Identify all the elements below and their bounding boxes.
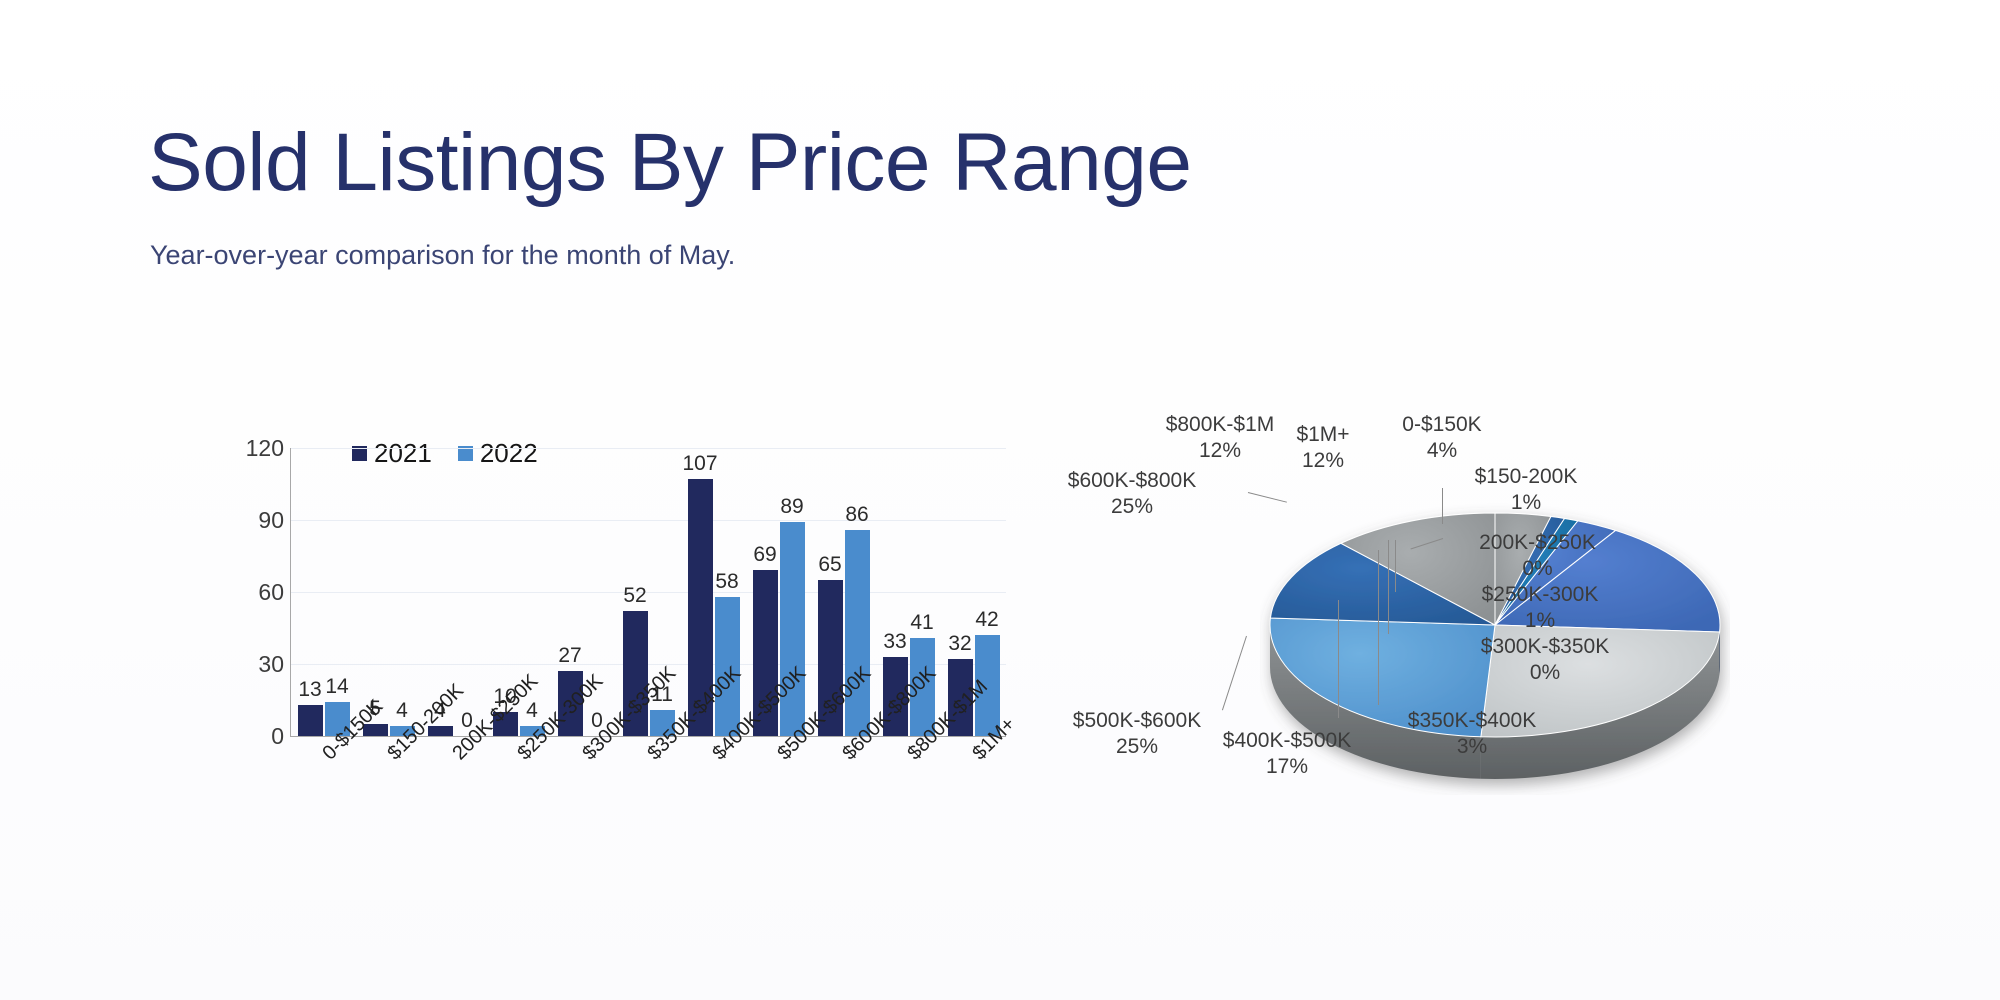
x-label-cell: $150-200K — [356, 740, 421, 840]
bar-value-label: 41 — [910, 611, 933, 635]
bar-value-label: 65 — [818, 553, 841, 577]
bar-value-label: 107 — [682, 452, 717, 476]
leader-line-350k-400k — [1378, 550, 1379, 705]
leader-line-300k-350k — [1388, 540, 1389, 634]
page-subtitle: Year-over-year comparison for the month … — [150, 240, 735, 271]
pie-label-name-800k-1m: $800K-$1M — [1166, 413, 1275, 436]
x-label-cell: $500K-$600K — [746, 740, 811, 840]
y-axis-labels: 120 90 60 30 0 — [212, 448, 284, 736]
leader-line-400k-500k — [1338, 600, 1339, 718]
pie-label-pct-500k-600k: 25% — [1042, 734, 1232, 760]
pie-label-pct-200k-250k: 0% — [1450, 556, 1625, 582]
pie-chart: $800K-$1M 12% $1M+ 12% 0-$150K 4% $150-2… — [1150, 440, 1970, 860]
pie-label-name-500k-600k: $500K-$600K — [1073, 709, 1201, 732]
x-label-cell: $1M+ — [941, 740, 1006, 840]
pie-label-300k-350k: $300K-$350K 0% — [1450, 634, 1640, 686]
x-label-cell: $600K-$800K — [811, 740, 876, 840]
pie-label-pct-150-200k: 1% — [1446, 490, 1606, 516]
page-title: Sold Listings By Price Range — [148, 120, 1191, 206]
pie-label-1m-plus: $1M+ 12% — [1268, 422, 1378, 474]
pie-label-name-250k-300k: $250K-300K — [1482, 583, 1599, 606]
bar-value-label: 69 — [753, 543, 776, 567]
pie-label-name-600k-800k: $600K-$800K — [1068, 469, 1196, 492]
leader-line-0-150k — [1442, 488, 1443, 524]
y-tick-90: 90 — [214, 507, 284, 534]
bar-group: 1314 — [291, 448, 356, 736]
bar-value-label: 58 — [715, 570, 738, 594]
bar-y2022[interactable]: 4 — [390, 448, 415, 736]
bar-value-label: 86 — [845, 503, 868, 527]
bar-y2021[interactable]: 13 — [298, 448, 323, 736]
pie-label-pct-300k-350k: 0% — [1450, 660, 1640, 686]
y-tick-0: 0 — [214, 723, 284, 750]
bar-rect — [298, 705, 323, 736]
x-axis-labels: 0-$150K$150-200K200K-$250K$250K-300K$300… — [291, 740, 1006, 840]
pie-label-150-200k: $150-200K 1% — [1446, 464, 1606, 516]
pie-label-pct-1m-plus: 12% — [1268, 448, 1378, 474]
pie-label-name-400k-500k: $400K-$500K — [1223, 729, 1351, 752]
leader-line-250k-300k — [1395, 540, 1396, 592]
pie-label-name-350k-400k: $350K-$400K — [1408, 709, 1536, 732]
pie-label-200k-250k: 200K-$250K 0% — [1450, 530, 1625, 582]
bar-value-label: 13 — [298, 678, 321, 702]
x-label-cell: 0-$150K — [291, 740, 356, 840]
pie-label-pct-0-150k: 4% — [1382, 438, 1502, 464]
pie-label-pct-250k-300k: 1% — [1450, 608, 1630, 634]
bar-y2021[interactable]: 5 — [363, 448, 388, 736]
bar-value-label: 27 — [558, 644, 581, 668]
pie-label-name-200k-250k: 200K-$250K — [1479, 531, 1596, 554]
pie-label-350k-400k: $350K-$400K 3% — [1382, 708, 1562, 760]
bar-value-label: 42 — [975, 608, 998, 632]
x-label-cell: $250K-300K — [486, 740, 551, 840]
bar-y2022[interactable]: 14 — [325, 448, 350, 736]
bar-chart: 2021 2022 120 90 60 30 0 131454401042705… — [212, 448, 1092, 838]
slide-canvas: Sold Listings By Price Range Year-over-y… — [0, 0, 2000, 1000]
y-tick-60: 60 — [214, 579, 284, 606]
pie-label-name-300k-350k: $300K-$350K — [1481, 635, 1609, 658]
pie-label-pct-350k-400k: 3% — [1382, 734, 1562, 760]
x-label-cell: $350K-$400K — [616, 740, 681, 840]
bar-group: 54 — [356, 448, 421, 736]
pie-label-name-150-200k: $150-200K — [1475, 465, 1578, 488]
bar-value-label: 32 — [948, 632, 971, 656]
bar-value-label: 14 — [325, 675, 348, 699]
y-tick-30: 30 — [214, 651, 284, 678]
x-label-cell: $800K-$1M — [876, 740, 941, 840]
x-label-cell: 200K-$250K — [421, 740, 486, 840]
pie-label-500k-600k: $500K-$600K 25% — [1042, 708, 1232, 760]
pie-label-250k-300k: $250K-300K 1% — [1450, 582, 1630, 634]
bar-value-label: 4 — [396, 699, 408, 723]
leader-line-500k-600k — [1222, 636, 1247, 710]
pie-label-pct-600k-800k: 25% — [1032, 494, 1232, 520]
x-label-cell: $400K-$500K — [681, 740, 746, 840]
x-label-cell: $300K-$350K — [551, 740, 616, 840]
pie-label-0-150k: 0-$150K 4% — [1382, 412, 1502, 464]
bar-value-label: 52 — [623, 584, 646, 608]
y-tick-120: 120 — [214, 435, 284, 462]
bar-value-label: 33 — [883, 630, 906, 654]
pie-label-name-1m-plus: $1M+ — [1296, 423, 1349, 446]
bar-value-label: 89 — [780, 495, 803, 519]
pie-label-600k-800k: $600K-$800K 25% — [1032, 468, 1232, 520]
bar-value-label: 4 — [526, 699, 538, 723]
pie-label-name-0-150k: 0-$150K — [1402, 413, 1481, 436]
